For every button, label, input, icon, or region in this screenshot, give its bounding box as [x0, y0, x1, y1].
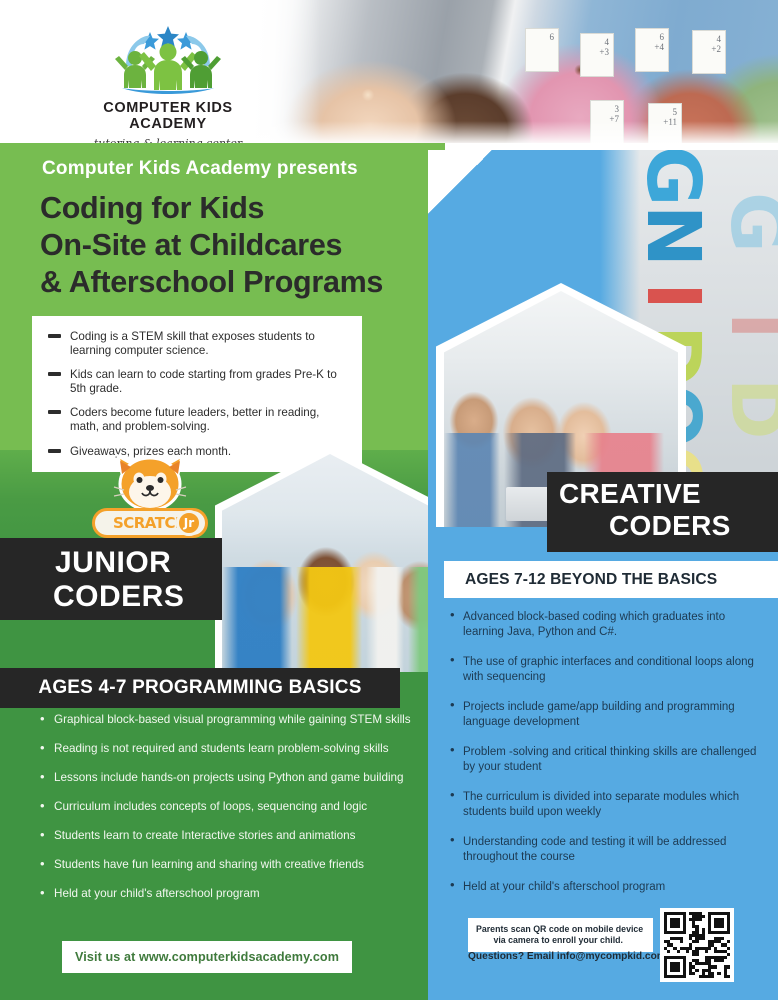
brand-name: COMPUTER KIDS ACADEMY — [78, 100, 258, 132]
list-item: Graphical block-based visual programming… — [40, 712, 430, 727]
creative-bullet-list: Advanced block-based coding which gradua… — [450, 610, 766, 911]
svg-text:N: N — [630, 205, 716, 267]
junior-ages-label: AGES 4-7 PROGRAMMING BASICS — [38, 677, 361, 699]
list-item: Reading is not required and students lea… — [40, 741, 430, 756]
blue-panel-corner-notch — [428, 150, 492, 214]
header-bottom-fade — [250, 121, 778, 143]
headline-line-2: On-Site at Childcares — [40, 227, 440, 264]
list-item: Kids can learn to code starting from gra… — [46, 368, 346, 395]
intro-bullet-text: Coding is a STEM skill that exposes stud… — [70, 330, 315, 357]
dash-bullet-icon — [48, 372, 61, 376]
junior-title-line-2: CODERS — [53, 580, 184, 614]
junior-hex-photo — [215, 447, 445, 672]
list-item: Lessons include hands-on projects using … — [40, 770, 430, 785]
headline-line-1: Coding for Kids — [40, 190, 440, 227]
svg-text:I: I — [714, 312, 778, 340]
flashcard: 4+3 — [580, 33, 614, 77]
intro-bullet-text: Kids can learn to code starting from gra… — [70, 368, 337, 395]
presents-label: Computer Kids Academy presents — [42, 158, 358, 180]
creative-title-line-1: CREATIVE — [559, 478, 701, 510]
list-item: Students have fun learning and sharing w… — [40, 857, 430, 872]
flashcard: 6 — [525, 28, 559, 72]
list-item: Students learn to create Interactive sto… — [40, 828, 430, 843]
qr-instructions-box: Parents scan QR code on mobile device vi… — [468, 918, 653, 952]
qr-instruction-line-1: Parents scan QR code on mobile device — [476, 924, 645, 935]
list-item: Curriculum includes concepts of loops, s… — [40, 799, 430, 814]
junior-photo-shirts — [222, 567, 438, 672]
intro-bullet-text: Coders become future leaders, better in … — [70, 406, 319, 433]
page-title: Coding for Kids On-Site at Childcares & … — [40, 190, 440, 301]
list-item: Held at your child's afterschool program — [450, 880, 766, 895]
headline-line-3: & Afterschool Programs — [40, 264, 440, 301]
visit-website-box[interactable]: Visit us at www.computerkidsacademy.com — [62, 941, 352, 973]
junior-title-line-1: JUNIOR — [55, 546, 171, 580]
creative-title-line-2: CODERS — [609, 510, 731, 542]
scratch-jr-cat-icon — [112, 452, 188, 514]
list-item: Problem -solving and critical thinking s… — [450, 745, 766, 774]
svg-text:D: D — [714, 378, 778, 439]
list-item: The curriculum is divided into separate … — [450, 790, 766, 819]
list-item: Coding is a STEM skill that exposes stud… — [46, 330, 346, 357]
list-item: Held at your child's afterschool program — [40, 886, 430, 901]
qr-code-icon[interactable] — [660, 908, 734, 982]
visit-website-label: Visit us at www.computerkidsacademy.com — [75, 950, 339, 964]
svg-text:G: G — [714, 192, 778, 253]
junior-coders-title-bar: JUNIOR CODERS — [0, 538, 222, 620]
dash-bullet-icon — [48, 449, 61, 453]
creative-ages-label: AGES 7-12 BEYOND THE BASICS — [465, 571, 717, 589]
creative-coders-title-bar: CREATIVE CODERS — [547, 472, 778, 552]
scratch-jr-logo: SCRATCH Jr — [92, 452, 208, 540]
list-item: Projects include game/app building and p… — [450, 700, 766, 729]
junior-bullet-list: Graphical block-based visual programming… — [40, 712, 430, 915]
header-band: 6 4+3 6+4 4+2 3+7 5+11 — [0, 0, 778, 143]
svg-text:G: G — [630, 150, 716, 206]
qr-instruction-line-2: via camera to enroll your child. — [476, 935, 645, 946]
flashcard: 6+4 — [635, 28, 669, 72]
dash-bullet-icon — [48, 334, 61, 338]
list-item: Understanding code and testing it will b… — [450, 835, 766, 864]
list-item: The use of graphic interfaces and condit… — [450, 655, 766, 684]
brand-logo: COMPUTER KIDS ACADEMY tutoring & learnin… — [78, 18, 258, 143]
junior-ages-bar: AGES 4-7 PROGRAMMING BASICS — [0, 668, 400, 708]
three-kids-stars-icon — [88, 18, 248, 96]
list-item: Advanced block-based coding which gradua… — [450, 610, 766, 639]
scratch-jr-badge: Jr — [176, 510, 202, 536]
flashcard: 4+2 — [692, 30, 726, 74]
flyer-page: 6 4+3 6+4 4+2 3+7 5+11 — [0, 0, 778, 1000]
list-item: Coders become future leaders, better in … — [46, 406, 346, 433]
dash-bullet-icon — [48, 410, 61, 414]
contact-email-label[interactable]: Questions? Email info@mycompkid.com — [468, 951, 666, 962]
creative-ages-bar: AGES 7-12 BEYOND THE BASICS — [444, 561, 778, 598]
